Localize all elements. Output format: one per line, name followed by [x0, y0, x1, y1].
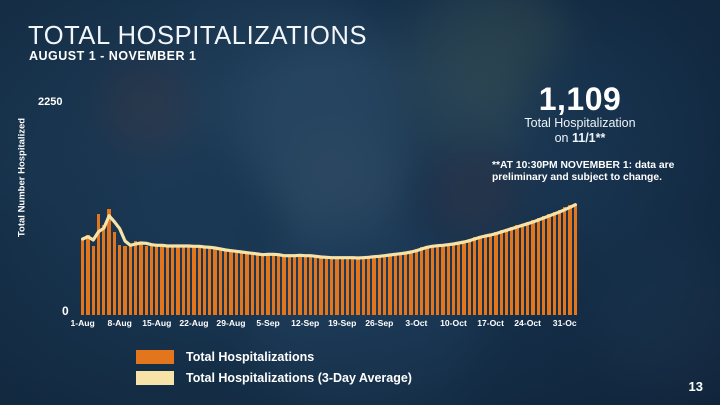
legend-swatch-total [136, 350, 174, 364]
x-axis-tick-label: 12-Sep [291, 318, 319, 328]
x-axis-tick-label: 19-Sep [328, 318, 356, 328]
x-axis-tick-label: 31-Oc [553, 318, 577, 328]
chart-legend: Total Hospitalizations Total Hospitaliza… [136, 350, 412, 392]
x-axis-tick-label: 15-Aug [142, 318, 171, 328]
x-axis-tick-label: 3-Oct [405, 318, 427, 328]
x-axis-tick-label: 17-Oct [477, 318, 504, 328]
hospitalizations-chart [80, 90, 578, 315]
x-axis-tick-label: 26-Sep [365, 318, 393, 328]
average-line-series [80, 90, 578, 315]
x-axis-tick-label: 1-Aug [70, 318, 94, 328]
page-title: TOTAL HOSPITALIZATIONS [28, 22, 367, 51]
legend-swatch-average [136, 371, 174, 385]
x-axis-tick-label: 29-Aug [216, 318, 245, 328]
legend-label-average: Total Hospitalizations (3-Day Average) [186, 371, 412, 385]
date-range-subtitle: AUGUST 1 - NOVEMBER 1 [29, 49, 196, 63]
y-axis-zero-label: 0 [62, 304, 69, 318]
x-axis-tick-label: 5-Sep [256, 318, 279, 328]
x-axis-labels: 1-Aug8-Aug15-Aug22-Aug29-Aug5-Sep12-Sep1… [0, 318, 720, 334]
page-number: 13 [689, 379, 703, 394]
y-axis-max-label: 2250 [38, 96, 62, 108]
x-axis-tick-label: 24-Oct [514, 318, 541, 328]
y-axis-title: Total Number Hospitalized [17, 108, 28, 248]
x-axis-tick-label: 8-Aug [108, 318, 132, 328]
x-axis-tick-label: 10-Oct [440, 318, 467, 328]
x-axis-tick-label: 22-Aug [179, 318, 208, 328]
legend-label-total: Total Hospitalizations [186, 350, 314, 364]
legend-item-total: Total Hospitalizations [136, 350, 412, 364]
legend-item-average: Total Hospitalizations (3-Day Average) [136, 371, 412, 385]
